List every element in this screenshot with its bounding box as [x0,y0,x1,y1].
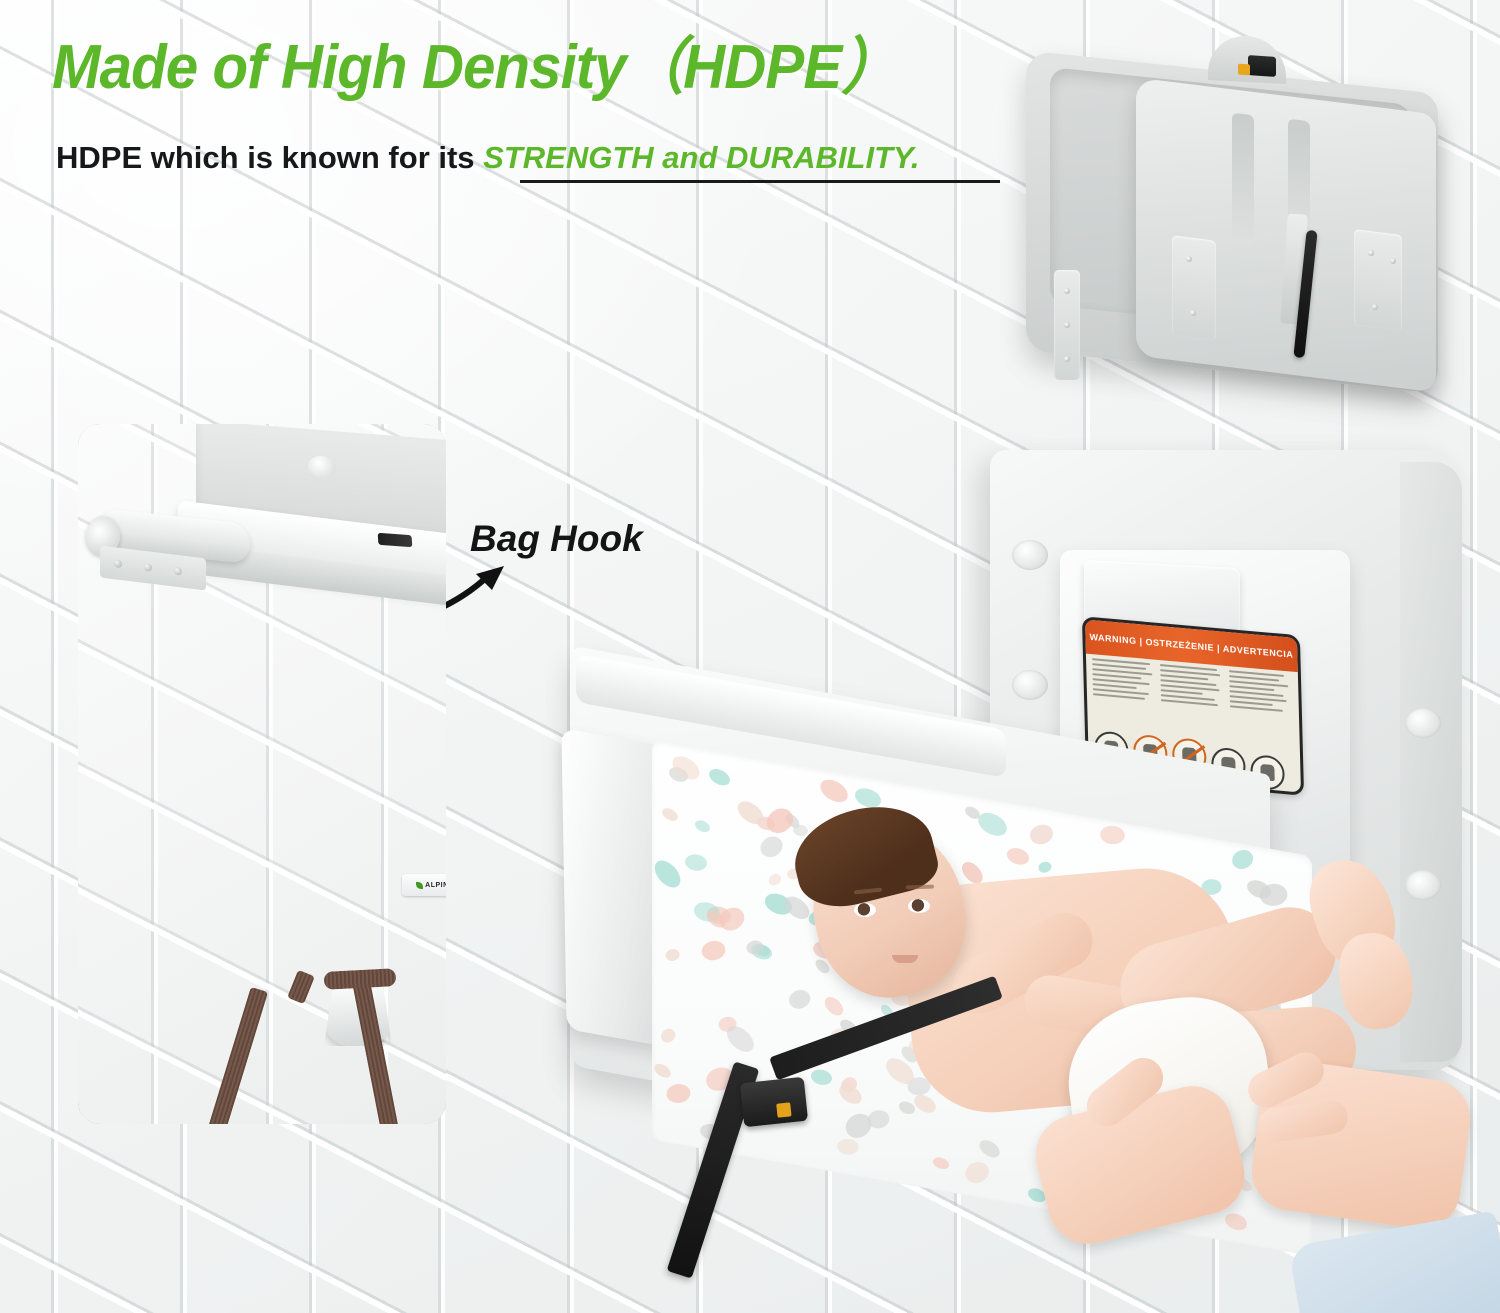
folded-screw-6 [1064,288,1070,294]
folded-top-clip [1248,55,1276,77]
safety-strap-buckle [740,1077,808,1127]
page-subtitle: HDPE which is known for its STRENGTH and… [56,140,1056,176]
warning-text-column-1 [1092,658,1157,730]
folded-screw-7 [1064,322,1070,328]
subtitle-lead: HDPE which is known for its [56,140,483,175]
inset-clip: ALPINE [78,424,446,1124]
folded-screw-4 [1390,258,1396,264]
bag-hook-inset-panel: ALPINE [78,424,446,1124]
baby-foot-2 [1335,929,1417,1032]
folded-hinge-plate-left [1172,235,1216,340]
pad-dot [698,938,728,964]
marketing-image-canvas: Made of High Density（HDPE） HDPE which is… [0,0,1500,1313]
pad-dot [708,766,732,789]
baby-mouth [892,955,918,963]
baby-eye-right [908,899,930,913]
pad-dot [683,854,708,871]
buckle-release-tab [776,1102,791,1117]
warning-band-text: WARNING | OSTRZEŻENIE | ADVERTENCIA [1089,632,1293,660]
pad-dot [756,832,786,861]
pad-dot [695,818,712,834]
pad-dot [652,1061,672,1080]
bag-hook-callout-label: Bag Hook [470,518,643,560]
folded-clip-yellow-tab [1238,64,1250,76]
warning-text-column-2 [1160,664,1225,736]
folded-screw-1 [1186,256,1192,262]
folded-groove-left [1232,113,1254,246]
inset-brand-badge: ALPINE [402,874,446,896]
leaf-icon [416,882,423,889]
pad-dot [663,1081,694,1106]
mounting-hole-cap-3 [1405,708,1441,738]
pad-dot [661,805,679,823]
pad-dot [766,871,783,888]
subtitle-underline [520,180,1000,183]
subtitle-accent: STRENGTH and DURABILITY. [483,140,919,175]
inset-strap-clip [378,533,413,547]
folded-changing-station-rear-view [1020,34,1480,396]
page-headline: Made of High Density（HDPE） [52,36,954,99]
pad-dot [664,947,683,963]
warning-text-column-3 [1229,670,1294,742]
pad-dot [652,856,686,893]
pad-dot [817,776,850,808]
folded-screw-8 [1064,356,1070,362]
mounting-hole-cap-2 [1012,670,1048,700]
folded-screw-3 [1368,250,1374,256]
baby-eye-left [854,903,876,917]
folded-screw-5 [1372,304,1378,310]
folded-hinge-plate-right [1354,229,1402,331]
shoulder-strap-over-hook [324,968,397,990]
inset-brand-name: ALPINE [425,882,446,889]
folded-screw-2 [1190,310,1196,316]
mounting-hole-cap-1 [1012,540,1048,570]
pad-dot [658,1026,678,1045]
